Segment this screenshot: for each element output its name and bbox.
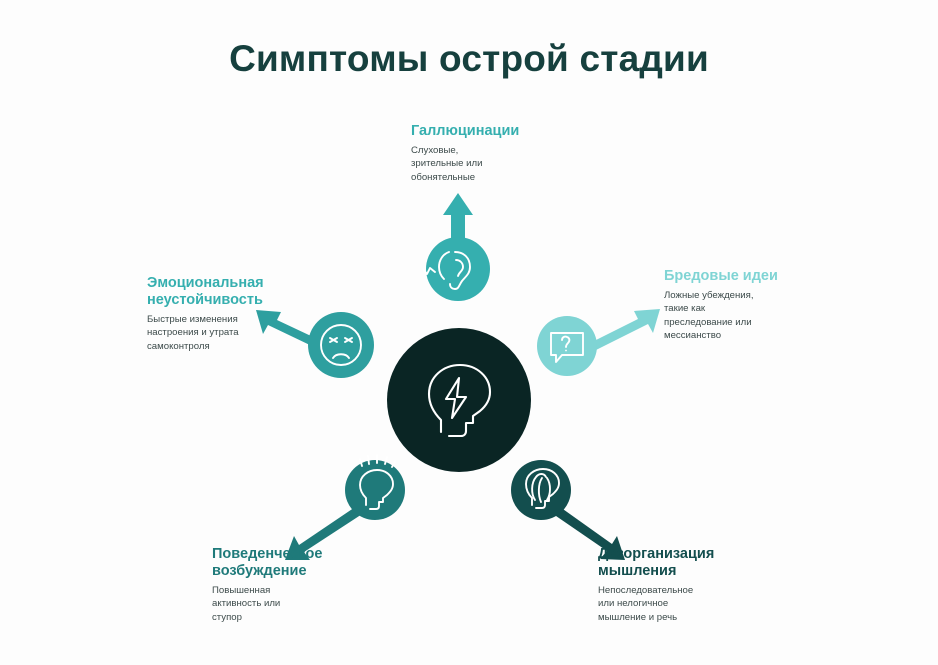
node-description-hallucinations: Слуховые, зрительные или обонятельные [411,144,601,184]
node-description-emotional: Быстрые изменения настроения и утрата са… [147,313,297,353]
node-heading-delusions: Бредовые идеи [664,268,829,285]
node-text-agitation: Поведенческое возбуждение Повышенная акт… [212,546,392,624]
node-description-disorganized: Непоследовательное или нелогичное мышлен… [598,584,783,624]
node-description-agitation: Повышенная активность или ступор [212,584,392,624]
center-node[interactable] [387,328,531,472]
node-text-delusions: Бредовые идеи Ложные убеждения, такие ка… [664,268,829,343]
node-heading-disorganized: Дезорганизация мышления [598,546,783,580]
node-text-disorganized: Дезорганизация мышления Непоследовательн… [598,546,783,624]
node-heading-emotional: Эмоциональная неустойчивость [147,275,297,309]
node-icon-agitation[interactable] [345,455,405,520]
node-description-delusions: Ложные убеждения, такие как преследовани… [664,289,829,343]
node-icon-hallucinations[interactable] [423,237,490,301]
node-text-hallucinations: Галлюцинации Слуховые, зрительные или об… [411,123,601,184]
node-icon-disorganized[interactable] [511,460,571,520]
node-heading-hallucinations: Галлюцинации [411,123,601,140]
infographic-canvas: Симптомы острой стадии [0,0,938,665]
node-icon-delusions[interactable] [537,316,597,376]
node-heading-agitation: Поведенческое возбуждение [212,546,392,580]
node-text-emotional: Эмоциональная неустойчивость Быстрые изм… [147,275,297,353]
node-icon-emotional[interactable] [308,312,374,378]
